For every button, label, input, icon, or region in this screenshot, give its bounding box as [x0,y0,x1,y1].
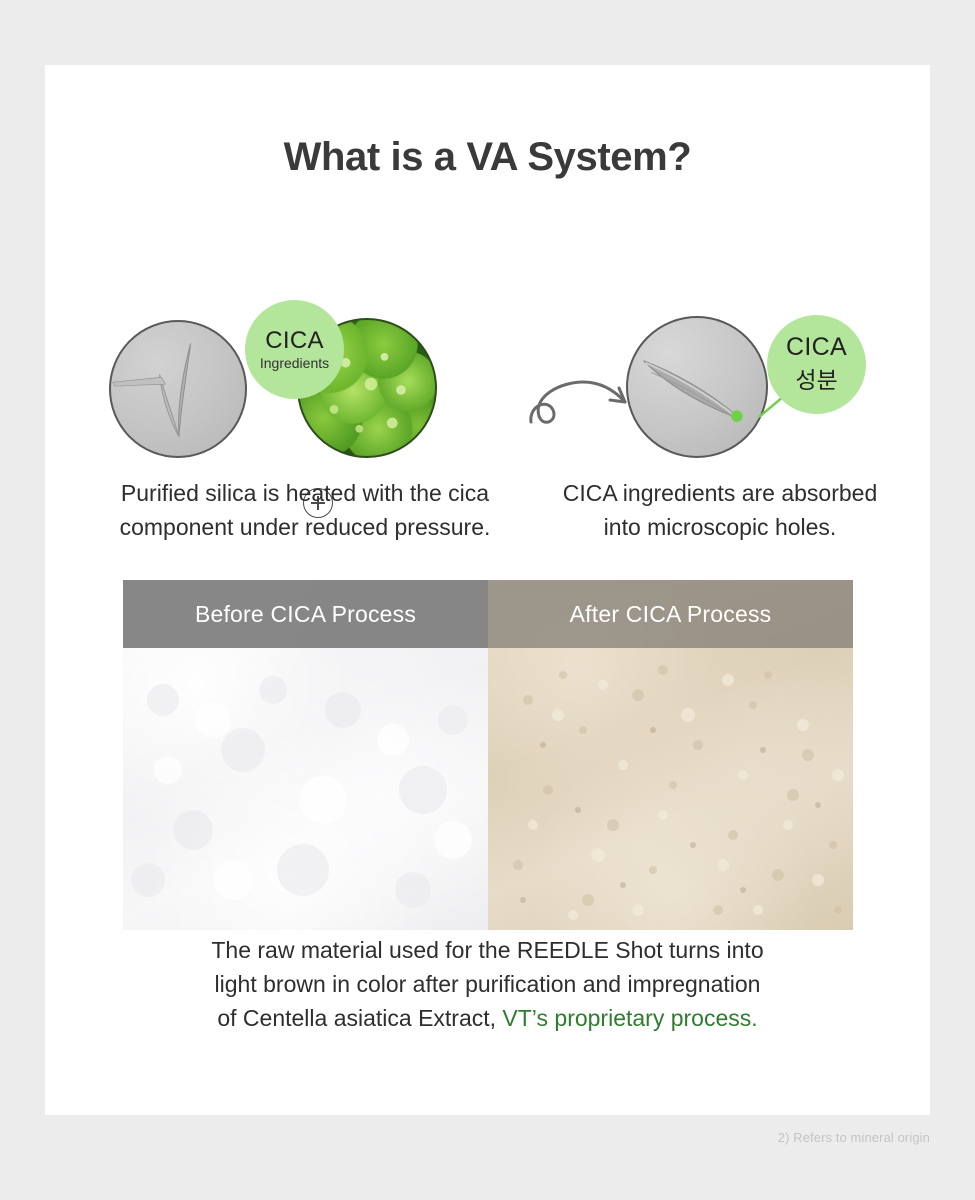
before-after-comparison: Before CICA Process [123,580,853,930]
page-title: What is a VA System? [45,135,930,180]
bottom-line-3-accent: VT’s proprietary process. [502,1005,757,1031]
badge-right-sub-label: 성분 [795,361,837,395]
content-card: What is a VA System? [45,65,930,1115]
bottom-line-2: light brown in color after purification … [90,967,885,1001]
badge-left-main-label: CICA [265,328,324,353]
va-system-diagram: CICA Ingredients [45,180,930,510]
caption-left: Purified silica is heated with the cica … [90,477,520,545]
after-pane: After CICA Process [488,580,853,930]
bottom-line-1: The raw material used for the REEDLE Sho… [90,933,885,967]
page-root: What is a VA System? [0,0,975,1200]
after-label: After CICA Process [488,580,853,648]
bottom-line-3-plain: of Centella asiatica Extract, [217,1005,502,1031]
absorbed-needle-structure-icon [628,318,766,456]
bottom-line-3: of Centella asiatica Extract, VT’s propr… [90,1001,885,1035]
before-pane: Before CICA Process [123,580,488,930]
silica-after-image [626,316,768,458]
before-label: Before CICA Process [123,580,488,648]
cica-component-badge: CICA 성분 [767,315,866,414]
bottom-description: The raw material used for the REEDLE Sho… [90,933,885,1035]
caption-right: CICA ingredients are absorbed into micro… [545,477,895,545]
badge-left-sub-label: Ingredients [260,355,329,371]
footnote: 2) Refers to mineral origin [650,1130,930,1145]
silica-before-image [109,320,247,458]
badge-right-main-label: CICA [786,334,847,360]
cica-ingredients-badge: CICA Ingredients [245,300,344,399]
silica-needle-structure-icon [111,322,245,456]
